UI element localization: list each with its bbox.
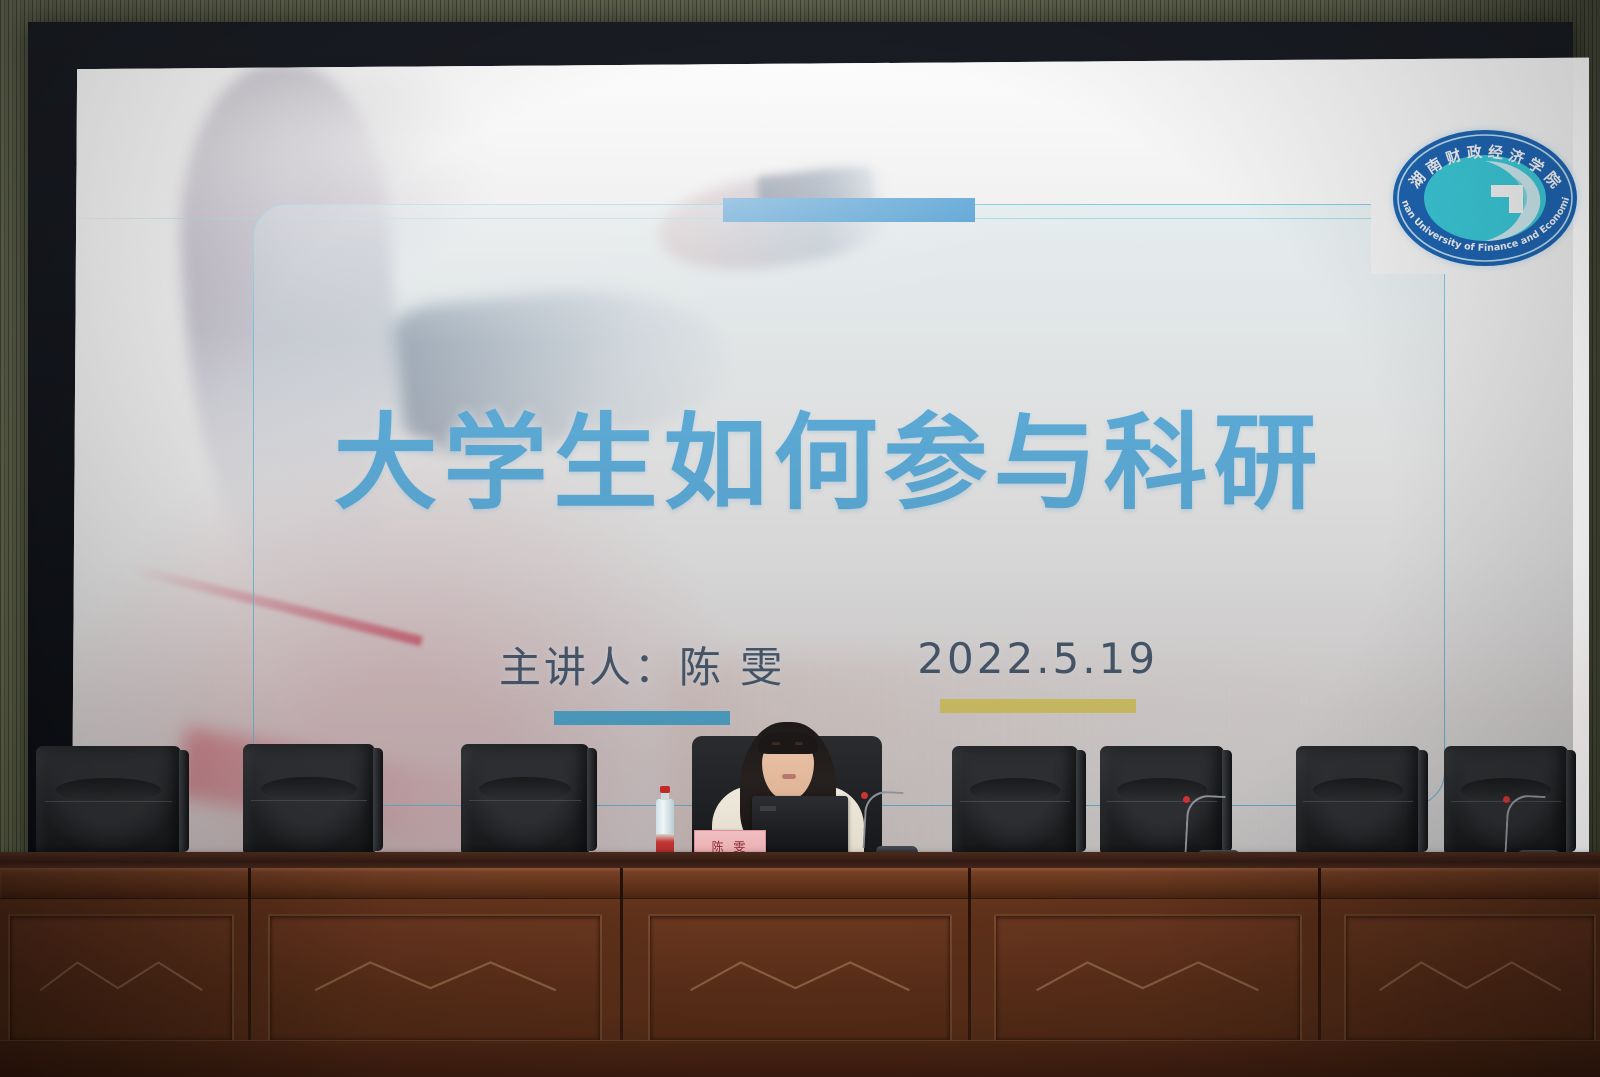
date-underline xyxy=(940,699,1136,713)
podium-top-rail xyxy=(0,868,1600,899)
podium-base-rail xyxy=(0,1040,1600,1077)
podium-panel xyxy=(268,914,602,1044)
laptop xyxy=(752,796,848,858)
speaker-label: 主讲人：陈 雯 xyxy=(499,634,785,695)
slide-date: 2022.5.19 xyxy=(917,634,1158,683)
presenter-eye-left xyxy=(772,742,780,745)
podium-table-front xyxy=(0,868,1600,1077)
speaker-block: 主讲人：陈 雯 xyxy=(499,634,785,725)
podium-panel xyxy=(1344,914,1596,1044)
chevron-ornament-icon xyxy=(37,956,206,999)
chair xyxy=(461,744,589,854)
chair xyxy=(952,746,1078,854)
presenter-fringe xyxy=(758,732,818,754)
chevron-ornament-icon xyxy=(686,956,914,999)
slide-accent-bar xyxy=(723,198,975,222)
chevron-ornament-icon xyxy=(310,956,561,999)
slide-meta-row: 主讲人：陈 雯 2022.5.19 xyxy=(68,634,1589,725)
podium-panel xyxy=(994,914,1302,1044)
chevron-ornament-icon xyxy=(1376,956,1564,999)
presenter-mouth xyxy=(782,774,796,779)
university-emblem-icon: 湖 南 财 政 经 济 学 院 Hunan University of Fina… xyxy=(1379,127,1589,269)
podium-panel xyxy=(648,914,952,1044)
chair xyxy=(243,744,375,854)
university-logo-card: 湖 南 财 政 经 济 学 院 Hunan University of Fina… xyxy=(1371,122,1589,274)
presenter-eye-right xyxy=(795,742,803,745)
laptop-logo-icon xyxy=(760,806,776,811)
microphone xyxy=(858,792,918,858)
chevron-ornament-icon xyxy=(1032,956,1263,999)
date-block: 2022.5.19 xyxy=(917,634,1158,713)
chair xyxy=(1296,746,1420,854)
water-bottle xyxy=(656,790,674,860)
podium-panel xyxy=(8,914,234,1044)
slide-title: 大学生如何参与科研 xyxy=(68,378,1589,529)
chair xyxy=(36,746,181,854)
lecture-hall-photo: 大学生如何参与科研 主讲人：陈 雯 2022.5.19 xyxy=(0,0,1600,1077)
